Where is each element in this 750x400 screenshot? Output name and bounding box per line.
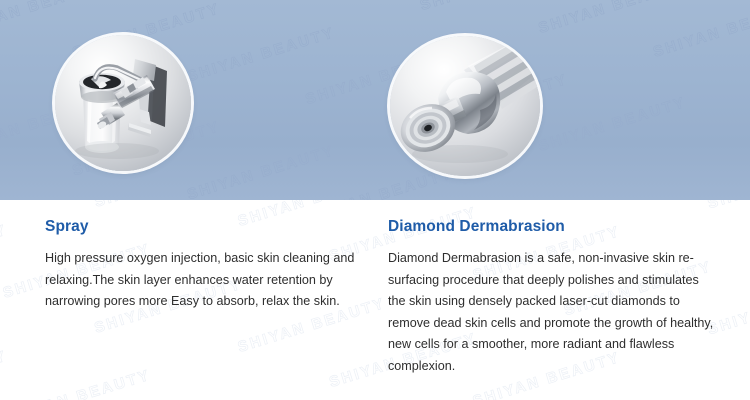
watermark-text: SHIYAN BEAUTY (92, 200, 244, 211)
watermark-row: SHIYAN BEAUTYSHIYAN BEAUTYSHIYAN BEAUTYS… (0, 0, 750, 15)
feature-title-diamond-dermabrasion: Diamond Dermabrasion (388, 218, 718, 236)
hero-banner: SHIYAN BEAUTYSHIYAN BEAUTYSHIYAN BEAUTYS… (0, 0, 750, 200)
spray-handpiece-photo (55, 35, 191, 171)
feature-column-diamond-dermabrasion: Diamond Dermabrasion Diamond Dermabrasio… (388, 218, 718, 377)
watermark-text: SHIYAN BEAUTY (651, 0, 750, 61)
watermark-text: SHIYAN BEAUTY (0, 347, 9, 400)
feature-title-spray: Spray (45, 218, 370, 236)
watermark-text: SHIYAN BEAUTY (1, 367, 153, 400)
watermark-text: SHIYAN BEAUTY (536, 94, 688, 155)
watermark-text: SHIYAN BEAUTY (185, 24, 337, 85)
watermark-text: SHIYAN BEAUTY (0, 0, 104, 39)
feature-column-spray: Spray High pressure oxygen injection, ba… (45, 218, 370, 313)
feature-descriptions: SHIYAN BEAUTYSHIYAN BEAUTYSHIYAN BEAUTYS… (0, 200, 750, 400)
watermark-text: SHIYAN BEAUTY (536, 0, 688, 37)
feature-body-spray: High pressure oxygen injection, basic sk… (45, 248, 370, 313)
product-feature-page: SHIYAN BEAUTYSHIYAN BEAUTYSHIYAN BEAUTYS… (0, 0, 750, 400)
watermark-row: SHIYAN BEAUTYSHIYAN BEAUTYSHIYAN BEAUTYS… (0, 200, 750, 220)
watermark-text: SHIYAN BEAUTY (304, 165, 456, 200)
feature-body-diamond-dermabrasion: Diamond Dermabrasion is a safe, non-inva… (388, 248, 718, 377)
watermark-text: SHIYAN BEAUTY (418, 0, 570, 14)
diamond-dermabrasion-tip-photo (390, 36, 540, 176)
watermark-text: SHIYAN BEAUTY (0, 221, 9, 282)
watermark-text: SHIYAN BEAUTY (185, 142, 337, 200)
watermark-text: SHIYAN BEAUTY (706, 200, 750, 212)
